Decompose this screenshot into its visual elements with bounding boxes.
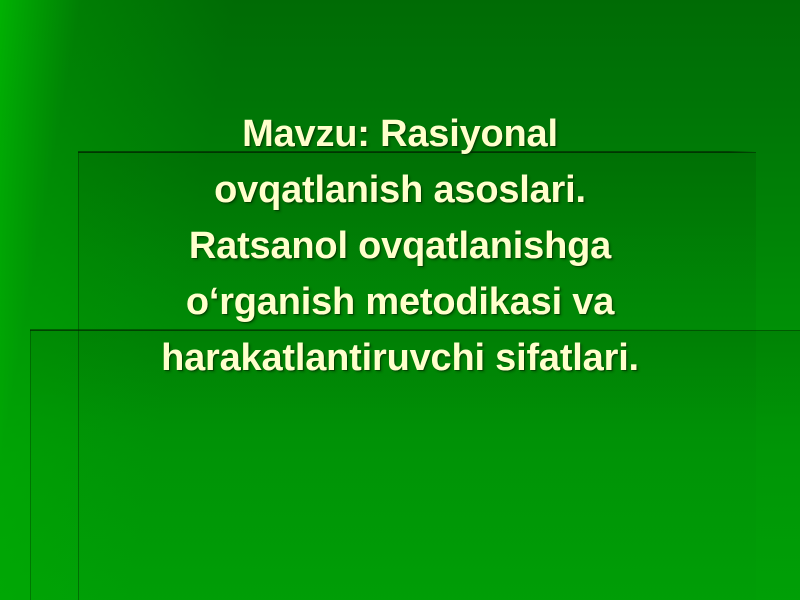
title-line-2: ovqatlanish asoslari. [0, 162, 800, 218]
title-line-1: Mavzu: Rasiyonal [0, 106, 800, 162]
presentation-slide: Mavzu: Rasiyonal ovqatlanish asoslari. R… [0, 0, 800, 600]
slide-title: Mavzu: Rasiyonal ovqatlanish asoslari. R… [0, 106, 800, 386]
title-line-5: harakatlantiruvchi sifatlari. [0, 330, 800, 386]
title-line-4: oʻrganish metodikasi va [0, 274, 800, 330]
title-line-3: Ratsanol ovqatlanishga [0, 218, 800, 274]
